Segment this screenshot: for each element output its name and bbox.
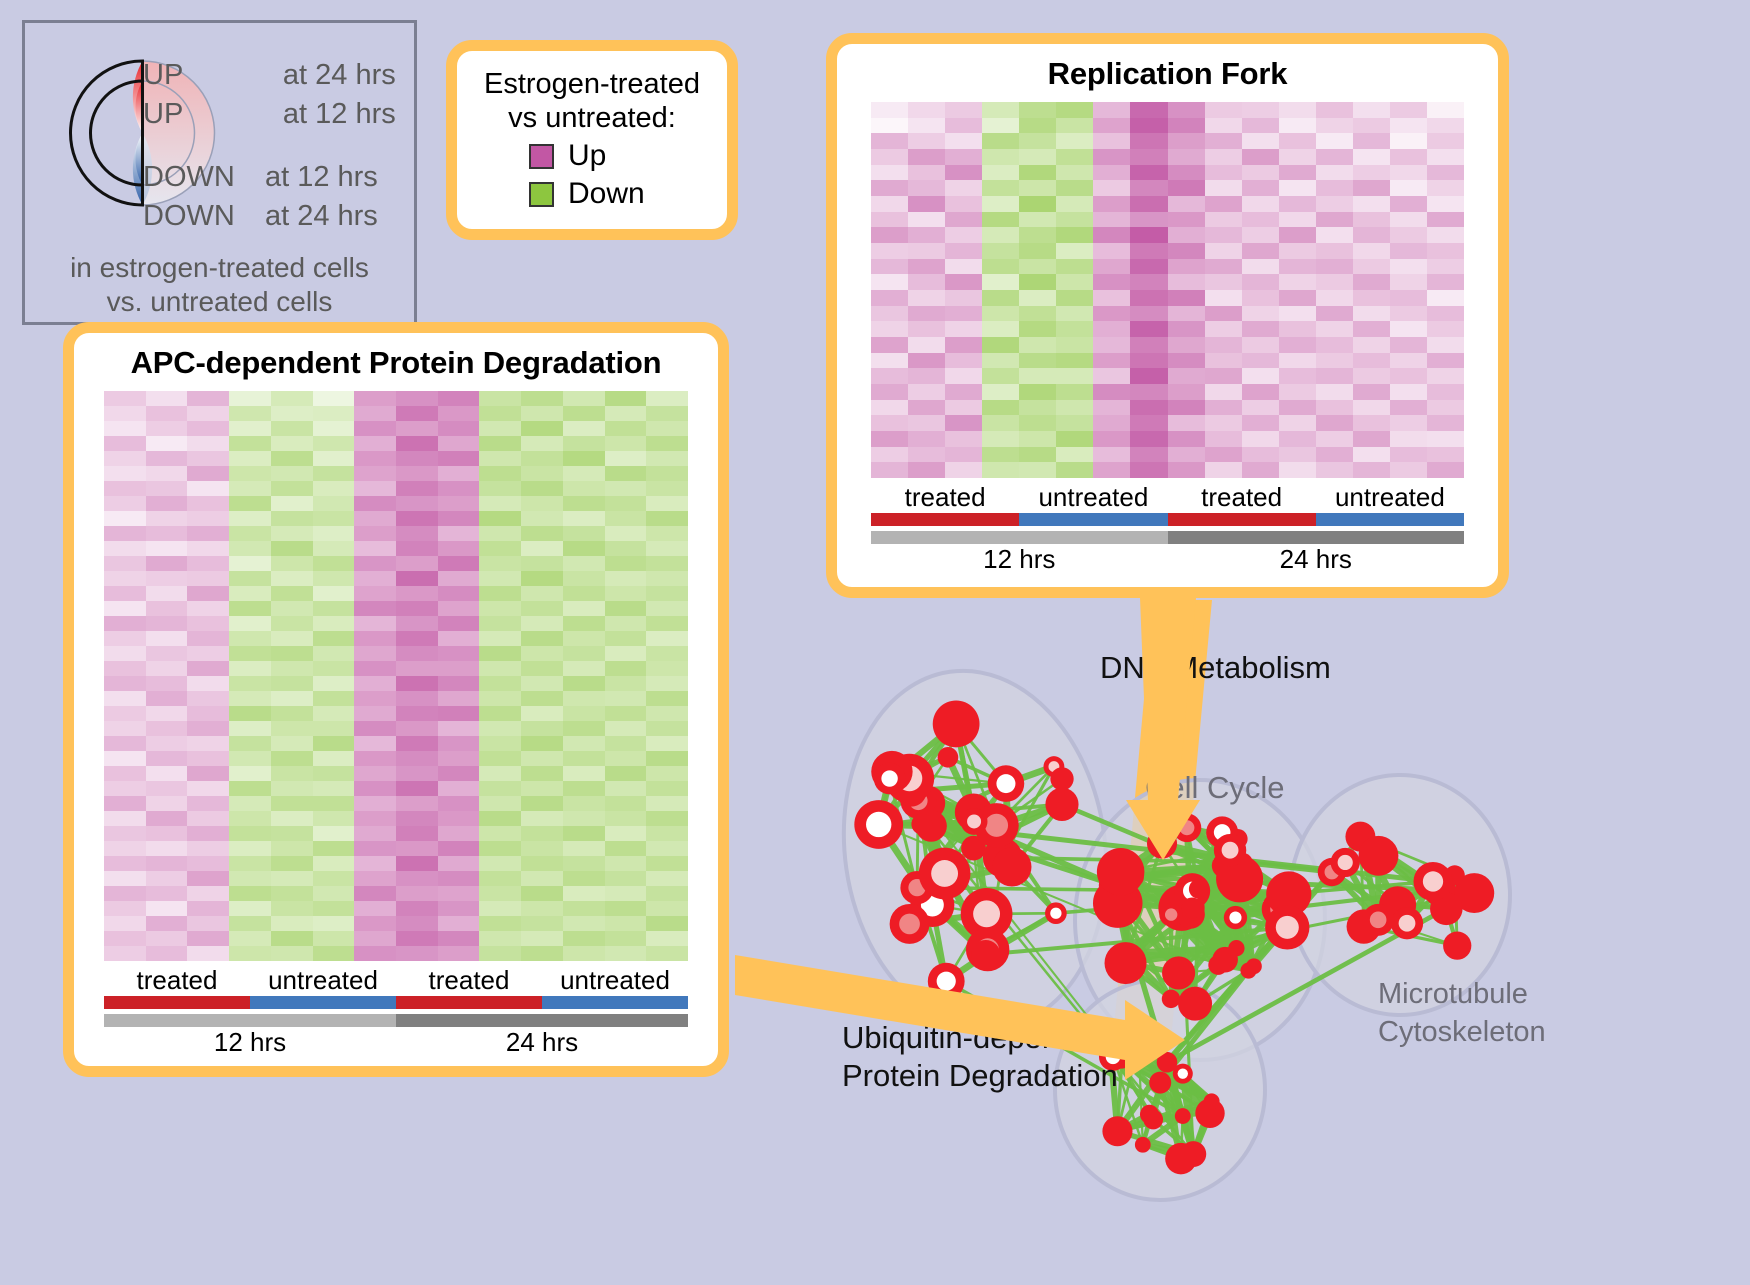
replication-fork-panel: Replication Fork treated untreated treat… xyxy=(826,33,1509,598)
network-node[interactable] xyxy=(1050,767,1073,790)
network-node[interactable] xyxy=(1189,879,1208,898)
key-label-up-24: UP xyxy=(143,59,183,91)
expression-legend-card: Estrogen-treated vs untreated: Up Down xyxy=(446,40,738,240)
network-node[interactable] xyxy=(1178,987,1212,1021)
group-label-1: untreated xyxy=(1019,482,1167,513)
key-label-up-12: UP xyxy=(143,98,183,130)
network-node[interactable] xyxy=(1246,958,1262,974)
replication-fork-group-labels: treated untreated treated untreated xyxy=(871,482,1464,513)
network-node[interactable] xyxy=(1214,834,1246,866)
network-node[interactable] xyxy=(938,747,959,768)
replication-fork-time-labels: 12 hrs 24 hrs xyxy=(871,544,1464,575)
legend-label-down: Down xyxy=(568,177,645,211)
network-node[interactable] xyxy=(1105,942,1147,984)
network-node[interactable] xyxy=(1140,1105,1159,1124)
cluster-label-cell-cycle: Cell Cycle xyxy=(1145,770,1285,806)
network-node[interactable] xyxy=(992,847,1031,886)
expression-legend-title-line1: Estrogen-treated xyxy=(457,67,727,101)
key-time-up-12: at 12 hrs xyxy=(283,98,396,130)
apc-time-label-12: 12 hrs xyxy=(104,1027,396,1058)
network-node[interactable] xyxy=(1204,1093,1220,1109)
network-node[interactable] xyxy=(1147,829,1177,859)
network-node[interactable] xyxy=(1182,897,1203,918)
network-node[interactable] xyxy=(854,800,903,849)
network-node[interactable] xyxy=(1045,902,1067,924)
key-row-up-24: UP at 24 hrs xyxy=(143,59,396,92)
network-node[interactable] xyxy=(988,765,1025,802)
up-color-swatch xyxy=(529,144,554,169)
expression-key-box: UP at 24 hrs UP at 12 hrs DOWN at 12 hrs… xyxy=(22,20,417,325)
key-footer: in estrogen-treated cells vs. untreated … xyxy=(25,251,414,319)
network-node[interactable] xyxy=(961,808,988,835)
cluster-label-cytoskeleton: Cytoskeleton xyxy=(1378,1016,1546,1049)
network-node[interactable] xyxy=(1130,1036,1146,1052)
network-node[interactable] xyxy=(1362,904,1394,936)
apc-time-bar xyxy=(104,1014,688,1027)
cluster-label-ubiquitin-line1: Ubiquitin-dependent xyxy=(842,1020,1120,1056)
network-node[interactable] xyxy=(1159,903,1183,927)
apc-time-labels: 12 hrs 24 hrs xyxy=(104,1027,688,1058)
apc-group-labels: treated untreated treated untreated xyxy=(104,965,688,996)
network-node[interactable] xyxy=(1265,905,1309,949)
key-time-up-24: at 24 hrs xyxy=(283,59,396,91)
network-node[interactable] xyxy=(1224,906,1247,929)
apc-group-bar xyxy=(104,996,688,1009)
group-label-0: treated xyxy=(871,482,1019,513)
network-node[interactable] xyxy=(933,701,980,748)
network-node[interactable] xyxy=(1097,848,1145,896)
network-node[interactable] xyxy=(1162,990,1180,1008)
apc-degradation-title: APC-dependent Protein Degradation xyxy=(74,333,718,381)
key-row-down-12: DOWN at 12 hrs xyxy=(143,161,378,194)
cluster-label-protein-degradation-line2: Protein Degradation xyxy=(842,1058,1118,1094)
key-row-down-24: DOWN at 24 hrs xyxy=(143,200,378,233)
apc-degradation-panel: APC-dependent Protein Degradation treate… xyxy=(63,322,729,1077)
replication-fork-time-bar xyxy=(871,531,1464,544)
key-row-up-12: UP at 12 hrs xyxy=(143,98,396,131)
network-node[interactable] xyxy=(928,963,965,1000)
network-node[interactable] xyxy=(1045,788,1078,821)
network-node[interactable] xyxy=(1165,1143,1196,1174)
network-node[interactable] xyxy=(971,940,1000,969)
down-color-swatch xyxy=(529,182,554,207)
network-node[interactable] xyxy=(1331,848,1360,877)
replication-fork-group-bar xyxy=(871,513,1464,526)
network-graph xyxy=(790,620,1610,1280)
group-label-2: treated xyxy=(1168,482,1316,513)
key-time-down-12: at 12 hrs xyxy=(265,161,378,193)
apc-group-label-2: treated xyxy=(396,965,542,996)
key-footer-line1: in estrogen-treated cells xyxy=(25,251,414,285)
replication-fork-heatmap xyxy=(871,102,1464,478)
pathway-network: DNA Metabolism Cell Cycle Microtubule Cy… xyxy=(790,620,1610,1280)
key-label-down-24: DOWN xyxy=(143,200,235,232)
group-label-3: untreated xyxy=(1316,482,1464,513)
network-node[interactable] xyxy=(1359,836,1399,876)
network-node[interactable] xyxy=(890,904,930,944)
key-label-down-12: DOWN xyxy=(143,161,235,193)
apc-group-label-3: untreated xyxy=(542,965,688,996)
legend-item-down: Down xyxy=(529,177,727,211)
cluster-label-dna-metabolism: DNA Metabolism xyxy=(1100,650,1331,686)
apc-group-label-0: treated xyxy=(104,965,250,996)
time-label-24: 24 hrs xyxy=(1168,544,1465,575)
network-node[interactable] xyxy=(1173,813,1202,842)
expression-legend-title: Estrogen-treated vs untreated: xyxy=(457,51,727,135)
network-node[interactable] xyxy=(1413,862,1452,901)
network-node[interactable] xyxy=(1102,1116,1132,1146)
network-node[interactable] xyxy=(1162,956,1195,989)
legend-item-up: Up xyxy=(529,139,727,173)
apc-time-label-24: 24 hrs xyxy=(396,1027,688,1058)
network-node[interactable] xyxy=(1135,1137,1151,1153)
network-node[interactable] xyxy=(1157,1052,1178,1073)
network-node[interactable] xyxy=(874,763,906,795)
legend-label-up: Up xyxy=(568,139,606,173)
network-node[interactable] xyxy=(919,848,971,900)
network-node[interactable] xyxy=(1391,907,1423,939)
time-label-12: 12 hrs xyxy=(871,544,1168,575)
key-time-down-24: at 24 hrs xyxy=(265,200,378,232)
replication-fork-title: Replication Fork xyxy=(837,44,1498,92)
network-node[interactable] xyxy=(1443,932,1471,960)
network-node[interactable] xyxy=(911,814,932,835)
network-node[interactable] xyxy=(1212,947,1238,973)
expression-legend-title-line2: vs untreated: xyxy=(457,101,727,135)
cluster-label-microtubule: Microtubule xyxy=(1378,978,1528,1011)
network-node[interactable] xyxy=(1175,1108,1191,1124)
apc-degradation-heatmap xyxy=(104,391,688,961)
key-footer-line2: vs. untreated cells xyxy=(25,285,414,319)
network-node[interactable] xyxy=(1149,1072,1171,1094)
network-node[interactable] xyxy=(961,836,986,861)
apc-group-label-1: untreated xyxy=(250,965,396,996)
